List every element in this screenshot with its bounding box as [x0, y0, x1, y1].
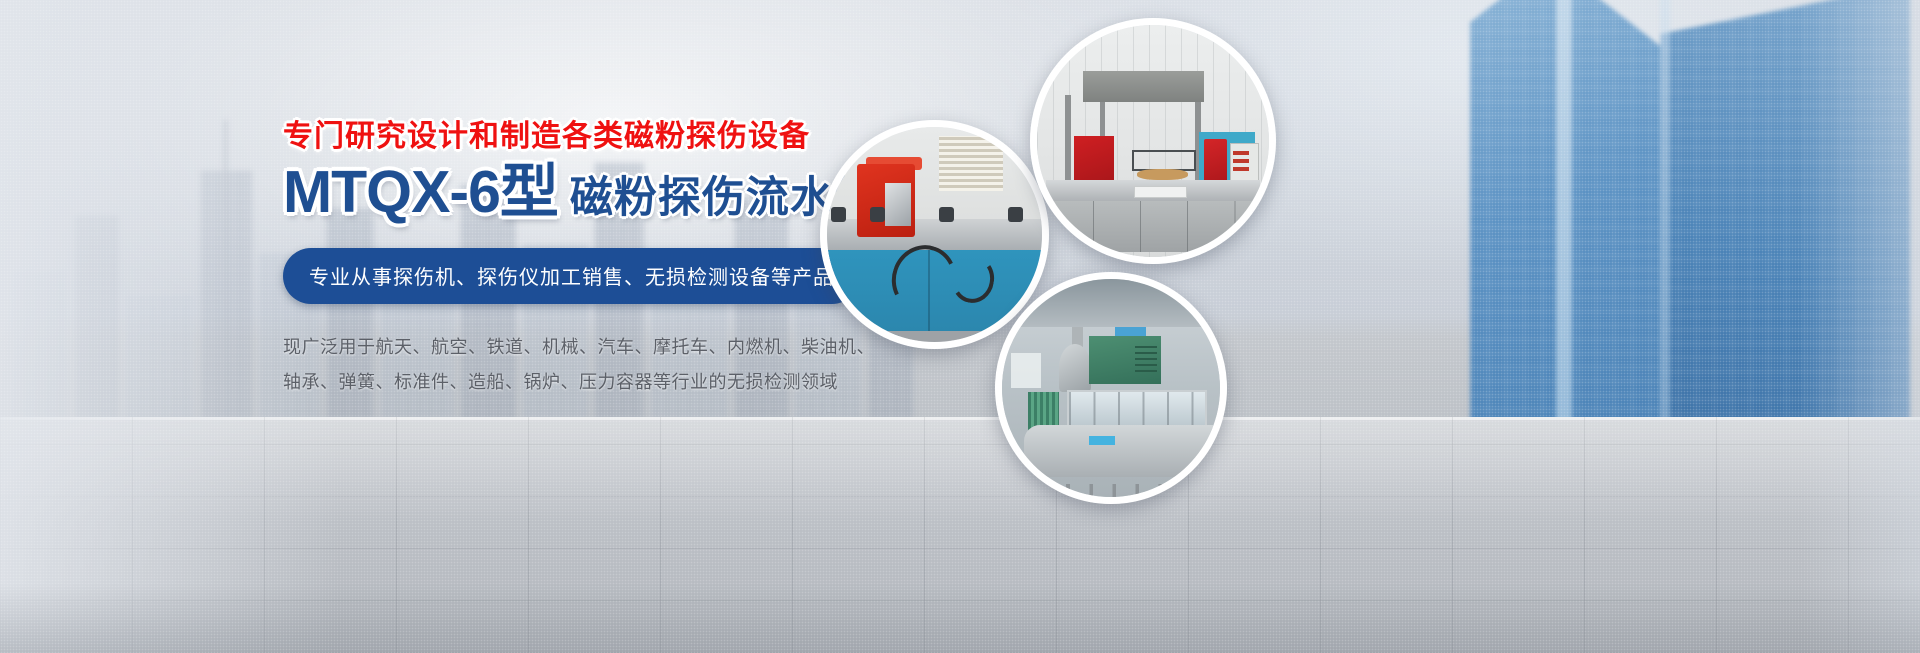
- description-line-1: 现广泛用于航天、航空、铁道、机械、汽车、摩托车、内燃机、柴油机、: [283, 330, 843, 365]
- copy-block: 专门研究设计和制造各类磁粉探伤设备 MTQX-6型磁粉探伤流水线 专业从事探伤机…: [283, 120, 843, 400]
- bottom-shade: [0, 583, 1920, 653]
- description-line-2: 轴承、弹簧、标准件、造船、锅炉、压力容器等行业的无损检测领域: [283, 365, 843, 400]
- main-title: MTQX-6型磁粉探伤流水线: [283, 163, 843, 222]
- description: 现广泛用于航天、航空、铁道、机械、汽车、摩托车、内燃机、柴油机、 轴承、弹簧、标…: [283, 330, 843, 400]
- photo-circle-production-line: [995, 272, 1227, 504]
- title-model: MTQX-6型: [283, 159, 558, 225]
- photo-circle-inspection-line: [1030, 18, 1276, 264]
- headline: 专门研究设计和制造各类磁粉探伤设备: [283, 120, 843, 153]
- promo-banner: 专门研究设计和制造各类磁粉探伤设备 MTQX-6型磁粉探伤流水线 专业从事探伤机…: [0, 0, 1920, 653]
- services-pill[interactable]: 专业从事探伤机、探伤仪加工销售、无损检测设备等产品: [283, 248, 860, 304]
- right-fade: [1800, 0, 1920, 653]
